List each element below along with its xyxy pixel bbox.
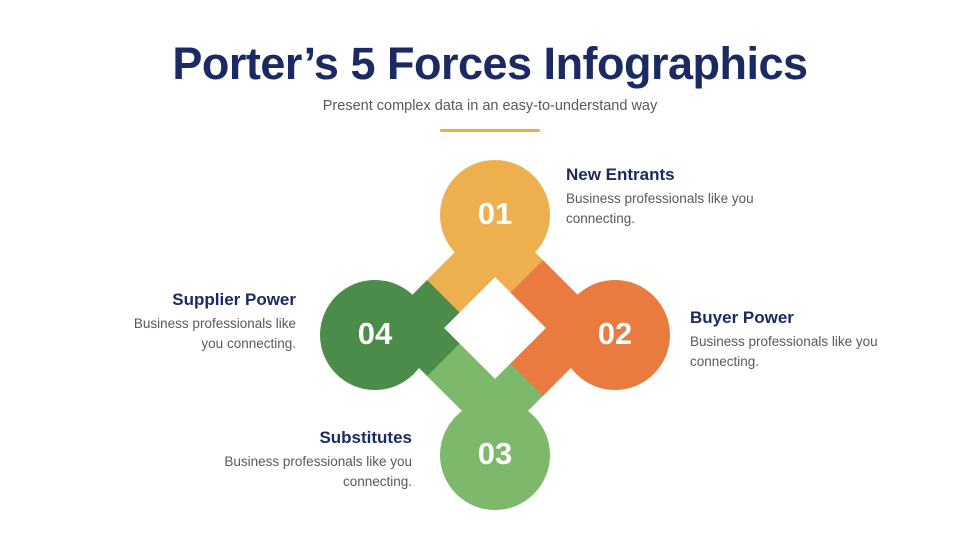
label-description-substitutes: Business professionals like you connecti… xyxy=(182,452,412,491)
label-title-new-entrants: New Entrants xyxy=(566,165,796,185)
node-circle-buyer-power[interactable]: 02 xyxy=(560,280,670,390)
slide-canvas: Porter’s 5 Forces Infographics Present c… xyxy=(0,0,980,551)
title-divider xyxy=(440,129,540,132)
node-number-new-entrants: 01 xyxy=(478,196,512,232)
node-number-substitutes: 03 xyxy=(478,436,512,472)
page-title: Porter’s 5 Forces Infographics xyxy=(0,38,980,90)
page-subtitle: Present complex data in an easy-to-under… xyxy=(0,98,980,114)
label-new-entrants: New Entrants Business professionals like… xyxy=(566,165,796,228)
label-supplier-power: Supplier Power Business professionals li… xyxy=(112,290,296,353)
node-number-supplier-power: 04 xyxy=(358,316,392,352)
node-circle-substitutes[interactable]: 03 xyxy=(440,400,550,510)
node-number-buyer-power: 02 xyxy=(598,316,632,352)
label-title-substitutes: Substitutes xyxy=(182,428,412,448)
label-description-new-entrants: Business professionals like you connecti… xyxy=(566,189,796,228)
label-buyer-power: Buyer Power Business professionals like … xyxy=(690,308,940,371)
node-circle-new-entrants[interactable]: 01 xyxy=(440,160,550,270)
label-description-supplier-power: Business professionals like you connecti… xyxy=(112,314,296,353)
label-substitutes: Substitutes Business professionals like … xyxy=(182,428,412,491)
label-title-supplier-power: Supplier Power xyxy=(112,290,296,310)
node-circle-supplier-power[interactable]: 04 xyxy=(320,280,430,390)
label-title-buyer-power: Buyer Power xyxy=(690,308,940,328)
label-description-buyer-power: Business professionals like you connecti… xyxy=(690,332,940,371)
